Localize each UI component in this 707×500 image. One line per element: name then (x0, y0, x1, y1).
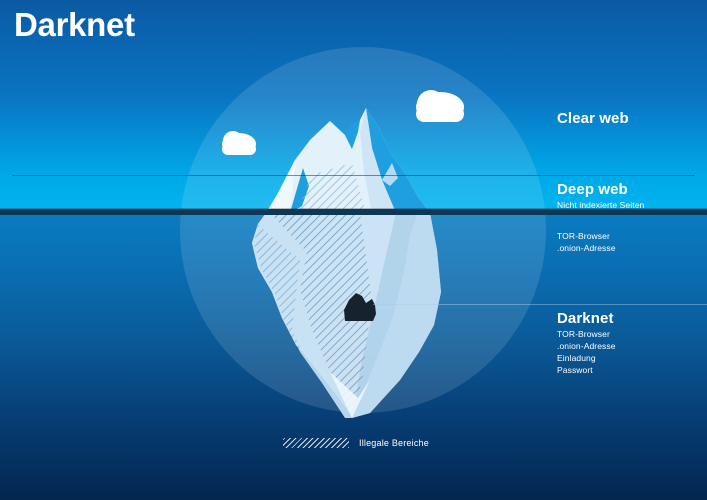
deep-web-requirements: TOR-Browser .onion-Adresse (557, 230, 616, 254)
legend: Illegale Bereiche (283, 438, 429, 448)
darknet-divider (373, 304, 707, 305)
page-title: Darknet (14, 6, 135, 44)
label-clear-web: Clear web (557, 110, 629, 127)
label-deep-web: Deep web (557, 181, 628, 198)
iceberg-peak (266, 108, 430, 213)
legend-label: Illegale Bereiche (359, 438, 429, 448)
cloud-large-icon (416, 90, 464, 122)
label-darknet: Darknet (557, 310, 614, 327)
darknet-requirements: TOR-Browser .onion-Adresse Einladung Pas… (557, 328, 616, 376)
cloud-small-icon (222, 131, 256, 155)
label-deep-web-subtitle: Nicht indexierte Seiten (557, 199, 644, 211)
infographic-canvas: Darknet Clear web Deep web Nicht indexie… (0, 0, 707, 500)
clear-web-divider (12, 175, 695, 176)
hatch-swatch-icon (283, 438, 349, 448)
